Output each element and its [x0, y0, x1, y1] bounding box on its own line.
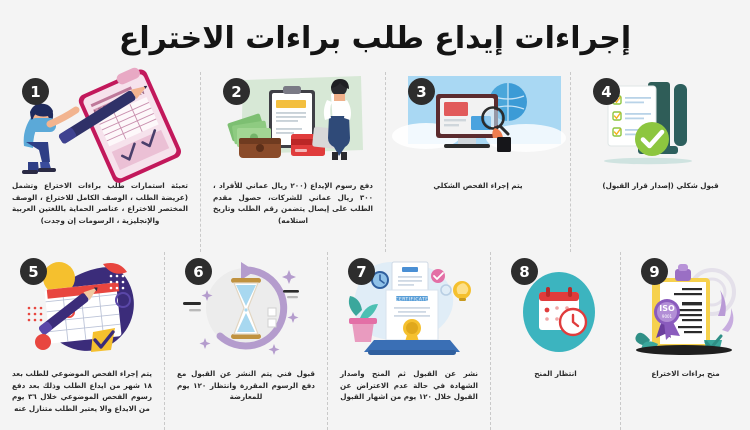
step-6-caption: قبول فني يتم النشر عن القبول مع دفع الرس…	[171, 368, 321, 403]
step-8: 8 انتظار المنح	[490, 252, 620, 430]
step-1: 1	[0, 72, 200, 252]
step-8-number-badge: 8	[511, 258, 538, 285]
step-6-number-badge: 6	[185, 258, 212, 285]
step-1-number-badge: 1	[22, 78, 49, 105]
page-title: إجراءات إيداع طلب براءات الاختراع	[119, 22, 631, 57]
title-bar: إجراءات إيداع طلب براءات الاختراع	[0, 0, 750, 72]
step-7: 7	[327, 252, 490, 430]
infographic-root: إجراءات إيداع طلب براءات الاختراع 4	[0, 0, 750, 430]
step-2-number-badge: 2	[223, 78, 250, 105]
svg-text:CERTIFICATE: CERTIFICATE	[395, 297, 428, 303]
step-5-number-badge: 5	[20, 258, 47, 285]
step-3-caption: يتم إجراء الفحص الشكلي	[427, 180, 528, 192]
step-2: 2	[200, 72, 385, 252]
step-5-illustration: 5	[6, 256, 158, 364]
steps-row-top: 4	[0, 72, 750, 252]
step-7-number-badge: 7	[348, 258, 375, 285]
step-4-caption: قبول شكلي (إصدار قرار القبول)	[596, 180, 724, 192]
step-2-caption: دفع رسوم الإيداع (٢٠٠ ريال عماني للأفراد…	[207, 180, 379, 227]
step-7-illustration: 7	[334, 256, 484, 364]
step-3-number-badge: 3	[408, 78, 435, 105]
step-4-illustration: 4	[577, 76, 744, 176]
step-2-illustration: 2	[207, 76, 379, 176]
step-8-illustration: 8	[497, 256, 614, 364]
step-5-caption: يتم إجراء الفحص الموضوعي للطلب بعد ١٨ شه…	[6, 368, 158, 415]
step-5: 5	[0, 252, 164, 430]
step-9-caption: منح براءات الاختراع	[645, 368, 725, 380]
step-4: 4	[570, 72, 750, 252]
step-7-caption: نشر عن القبول ثم المنح واصدار الشهادة في…	[334, 368, 484, 403]
svg-text:ISO: ISO	[659, 304, 675, 313]
step-9-illustration: 9	[627, 256, 744, 364]
step-1-illustration: 1	[6, 76, 194, 176]
step-9-number-badge: 9	[641, 258, 668, 285]
step-9: 9	[620, 252, 750, 430]
step-3-illustration: 3	[392, 76, 564, 176]
steps-row-bottom: 9	[0, 252, 750, 430]
step-6-illustration: 6	[171, 256, 321, 364]
step-4-number-badge: 4	[593, 78, 620, 105]
step-6: 6	[164, 252, 327, 430]
step-8-caption: انتظار المنح	[528, 368, 583, 380]
step-1-caption: تعبئة استمارات طلب براءات الاختراع وتشمل…	[6, 180, 194, 227]
svg-text:9001: 9001	[661, 314, 672, 319]
step-3: 3	[385, 72, 570, 252]
